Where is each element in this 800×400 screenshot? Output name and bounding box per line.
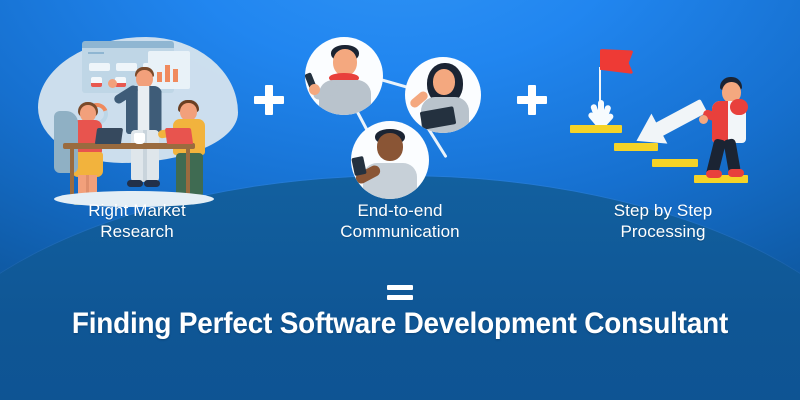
label-right-market-research: Right Market Research — [30, 200, 245, 242]
head — [377, 133, 403, 161]
label-end-to-end-communication: End-to-end Communication — [293, 200, 508, 242]
torso — [319, 80, 371, 115]
phone-icon — [351, 156, 366, 176]
label-line-1: Step by Step — [556, 200, 771, 221]
shoe — [144, 180, 160, 187]
burst-icon — [582, 95, 618, 127]
laptop-icon — [94, 128, 122, 144]
shoe — [706, 170, 722, 178]
shoe — [127, 180, 143, 187]
people-network-illustration — [293, 25, 508, 175]
head — [333, 49, 357, 76]
stair-step — [614, 143, 658, 151]
avatar — [351, 121, 429, 199]
promo-banner: Right Market Research End-to-end Communi… — [0, 0, 800, 400]
business-meeting-illustration — [30, 25, 245, 175]
screen-titlebar-dots — [88, 52, 104, 54]
label-line-2: Research — [30, 221, 245, 242]
label-line-1: End-to-end — [293, 200, 508, 221]
illustration-row — [0, 0, 800, 200]
jacket-red-panel — [712, 101, 728, 143]
screen-chip — [91, 77, 102, 87]
illustration-right-market-research — [30, 25, 245, 175]
equals-icon — [387, 285, 413, 301]
label-line-1: Right Market — [30, 200, 245, 221]
stairs-goal-illustration — [556, 25, 771, 175]
plus-icon — [247, 78, 291, 122]
pillar-labels-row: Right Market Research End-to-end Communi… — [0, 200, 800, 260]
hand — [108, 79, 117, 88]
stair-step — [570, 125, 622, 133]
chair-right — [54, 111, 78, 173]
network-node-person-3 — [351, 121, 429, 199]
plus-icon — [510, 78, 554, 122]
head — [433, 69, 455, 95]
illustration-step-by-step-processing — [556, 25, 771, 175]
table-leg — [186, 149, 190, 195]
shoe — [728, 169, 744, 177]
hand — [309, 84, 320, 95]
label-line-2: Processing — [556, 221, 771, 242]
flag-icon — [600, 49, 634, 75]
label-step-by-step-processing: Step by Step Processing — [556, 200, 771, 242]
hood — [730, 99, 748, 115]
avatar — [305, 37, 383, 115]
illustration-end-to-end-communication — [293, 25, 508, 175]
stair-step — [652, 159, 698, 167]
person-climbing — [704, 77, 766, 181]
banner-headline: Finding Perfect Software Development Con… — [28, 304, 772, 344]
label-line-2: Communication — [293, 221, 508, 242]
screen-card — [89, 63, 110, 71]
network-node-person-1 — [305, 37, 383, 115]
table-leg — [70, 149, 74, 195]
coffee-cup-icon — [134, 133, 145, 144]
laptop-icon — [164, 128, 192, 144]
person-seated-right — [172, 103, 218, 205]
hand — [699, 115, 708, 124]
